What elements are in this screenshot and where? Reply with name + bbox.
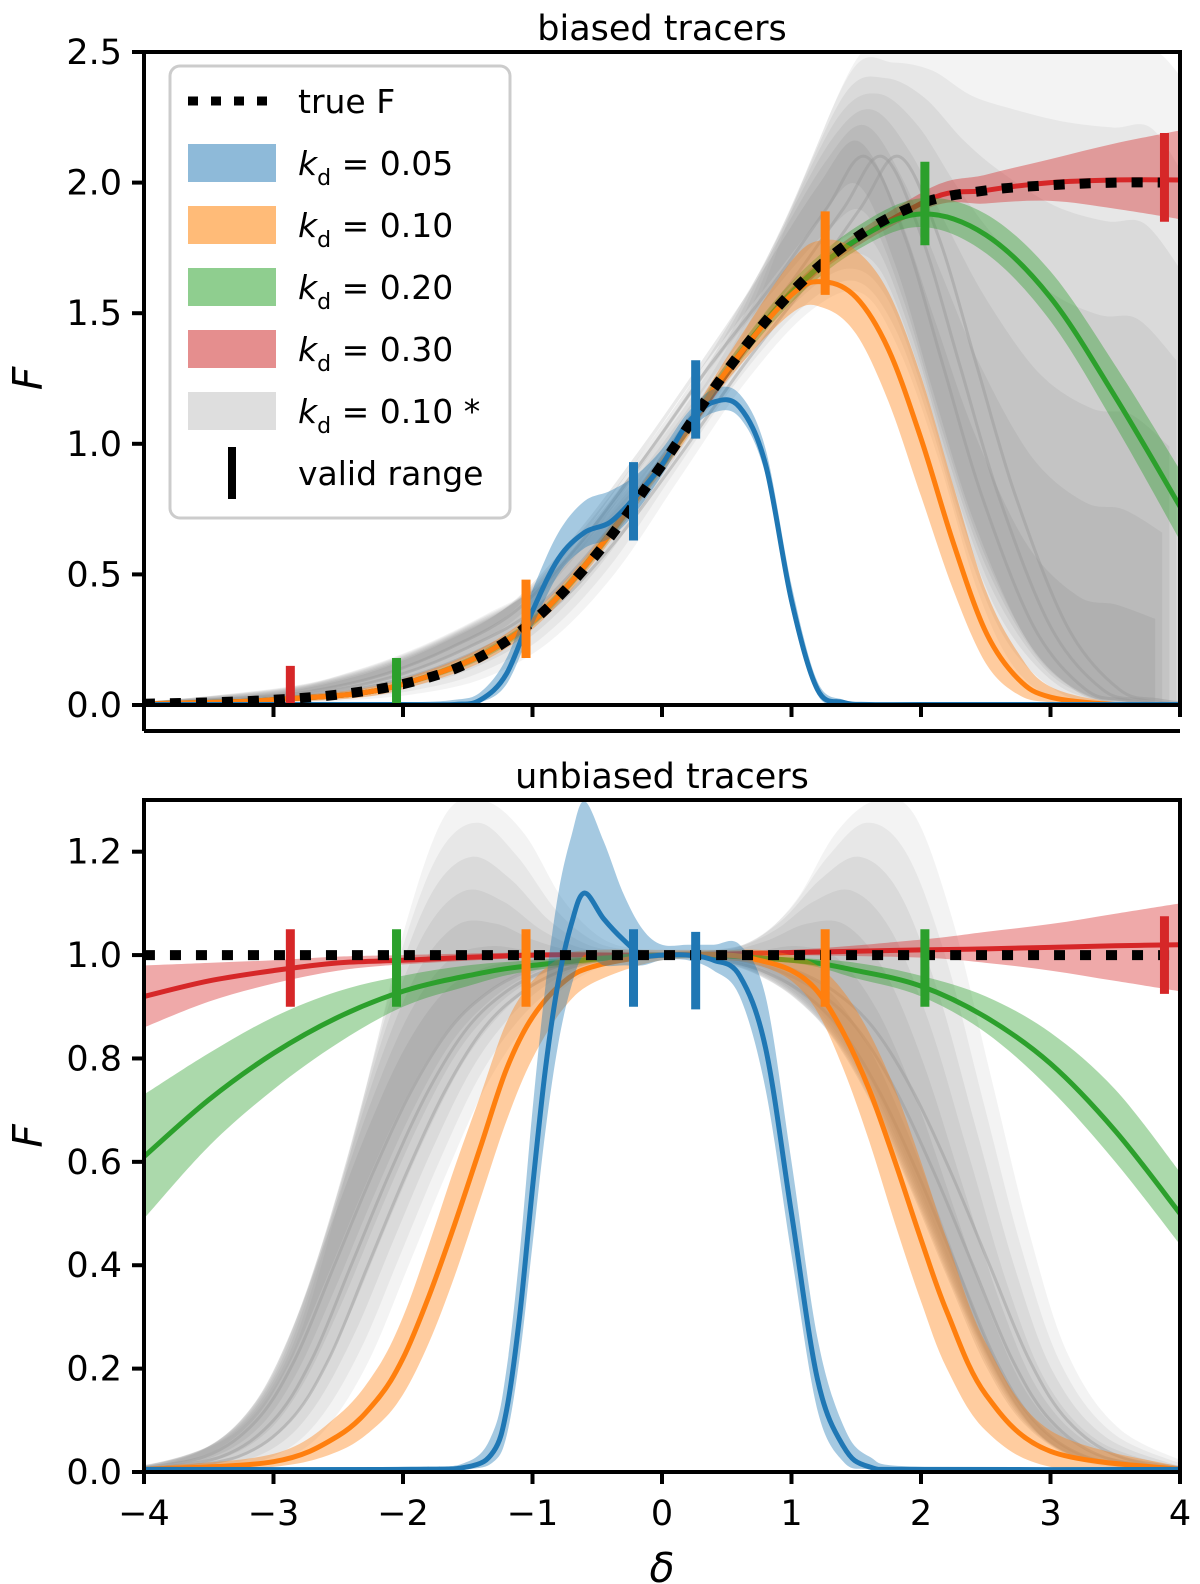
y-axis-label: F xyxy=(4,365,52,390)
x-tick-label: −2 xyxy=(377,1494,429,1534)
y-axis-label: F xyxy=(4,1123,52,1148)
y-tick-label: 0.6 xyxy=(66,1143,122,1183)
y-tick-label: 0.0 xyxy=(66,1453,122,1493)
y-tick-label: 0.4 xyxy=(66,1246,122,1286)
y-tick-label: 2.0 xyxy=(66,164,122,204)
y-tick-label: 0.0 xyxy=(66,686,122,726)
x-tick-label: −1 xyxy=(507,1494,559,1534)
y-tick-label: 0.5 xyxy=(66,555,122,595)
x-tick-label: −4 xyxy=(118,1494,170,1534)
y-tick-label: 1.0 xyxy=(66,425,122,465)
x-tick-label: 1 xyxy=(780,1494,802,1534)
y-tick-label: 1.0 xyxy=(66,936,122,976)
y-tick-label: 1.5 xyxy=(66,294,122,334)
legend-swatch-patch xyxy=(188,268,276,306)
panel-title: biased tracers xyxy=(537,9,786,49)
y-tick-label: 2.5 xyxy=(66,33,122,73)
x-tick-label: 0 xyxy=(651,1494,673,1534)
x-tick-label: −3 xyxy=(248,1494,300,1534)
legend-swatch-patch xyxy=(188,392,276,430)
legend-swatch-patch xyxy=(188,144,276,182)
x-axis-label: δ xyxy=(649,1544,674,1584)
x-tick-label: 4 xyxy=(1169,1494,1191,1534)
y-tick-label: 0.8 xyxy=(66,1039,122,1079)
legend: true Fkd = 0.05kd = 0.10kd = 0.20kd = 0.… xyxy=(170,66,510,518)
x-tick-label: 2 xyxy=(910,1494,932,1534)
legend-swatch-patch xyxy=(188,330,276,368)
figure-root: 0.00.51.01.52.02.5Fbiased tracers0.00.20… xyxy=(0,0,1200,1584)
y-tick-label: 1.2 xyxy=(66,833,122,873)
panel-title: unbiased tracers xyxy=(515,757,809,797)
panel-bottom: 0.00.20.40.60.81.01.2−4−3−2−101234Funbia… xyxy=(4,757,1198,1584)
figure-canvas: 0.00.51.01.52.02.5Fbiased tracers0.00.20… xyxy=(0,0,1200,1584)
legend-label: true F xyxy=(298,82,395,121)
legend-swatch-patch xyxy=(188,206,276,244)
y-tick-label: 0.2 xyxy=(66,1350,122,1390)
legend-label: valid range xyxy=(298,454,483,493)
x-tick-label: 3 xyxy=(1039,1494,1061,1534)
